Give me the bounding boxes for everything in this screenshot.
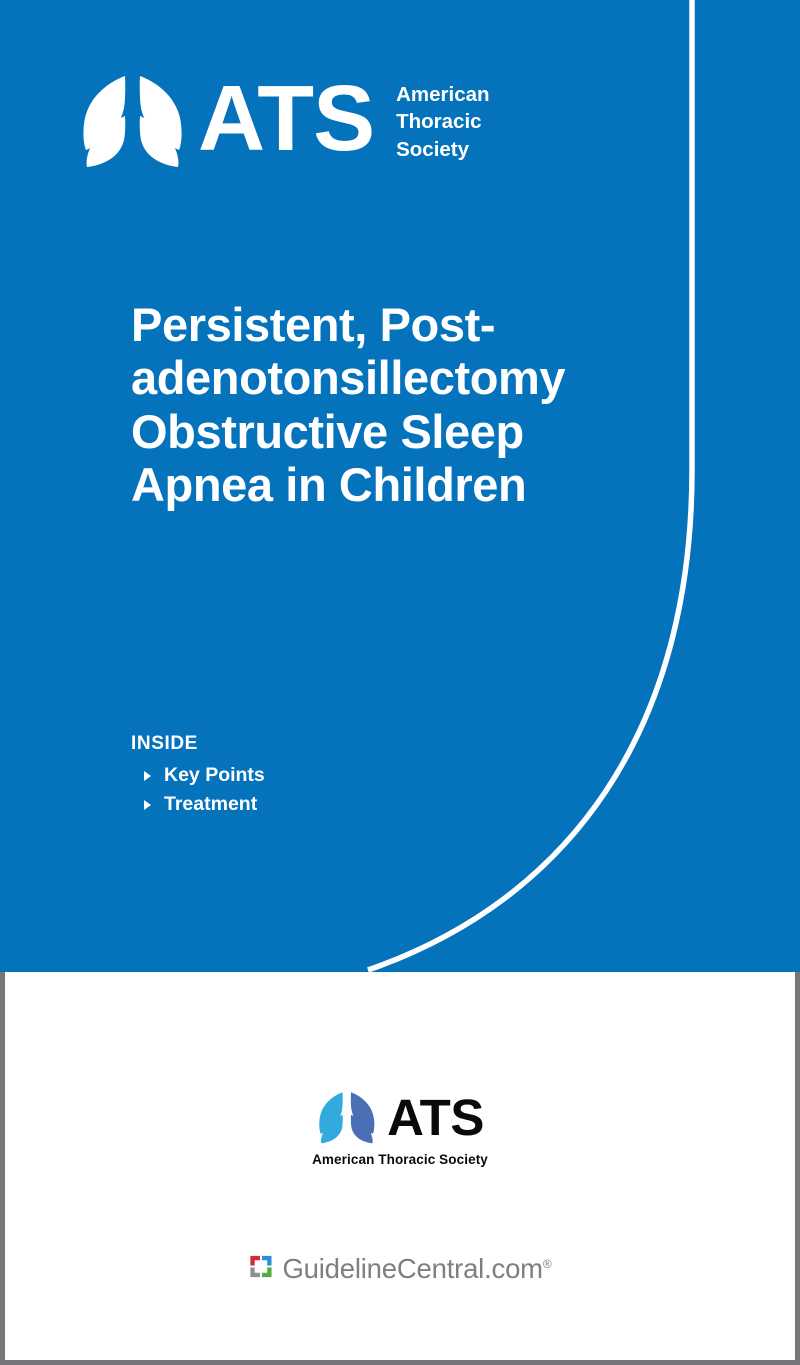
- ats-logo-footer: ATS American Thoracic Society: [312, 1090, 488, 1167]
- ats-logo-header: ATS American Thoracic Society: [78, 72, 490, 170]
- inside-item-label: Treatment: [164, 793, 257, 816]
- publisher-label: GuidelineCentral.com: [282, 1253, 542, 1284]
- ats-org-line-2: Thoracic: [396, 108, 489, 135]
- inside-list: Key Points Treatment: [131, 764, 265, 816]
- inside-section: INSIDE Key Points Treatment: [131, 733, 265, 822]
- inside-list-item-treatment[interactable]: Treatment: [144, 793, 265, 816]
- ats-wordmark: ATS: [387, 1096, 484, 1140]
- cover-page: ATS American Thoracic Society Persistent…: [0, 0, 800, 1365]
- guideline-central-pinwheel-icon: [248, 1254, 273, 1284]
- ats-lung-icon: [78, 72, 188, 170]
- inside-heading: INSIDE: [131, 733, 265, 755]
- inside-list-item-key-points[interactable]: Key Points: [144, 764, 265, 787]
- triangle-bullet-icon: [144, 771, 151, 781]
- footer-panel: ATS American Thoracic Society GuidelineC…: [0, 972, 800, 1365]
- ats-logo-footer-row: ATS: [312, 1090, 488, 1145]
- ats-org-name: American Thoracic Society: [312, 1152, 488, 1167]
- ats-lung-icon: [316, 1090, 378, 1145]
- ats-wordmark: ATS: [198, 79, 374, 157]
- inside-item-label: Key Points: [164, 764, 265, 787]
- registered-trademark-symbol: ®: [543, 1257, 552, 1271]
- ats-org-line-1: American: [396, 81, 489, 108]
- guideline-central-logo[interactable]: GuidelineCentral.com®: [248, 1253, 551, 1285]
- ats-org-line-3: Society: [396, 136, 489, 163]
- ats-org-name: American Thoracic Society: [396, 81, 489, 162]
- page-title: Persistent, Post-adenotonsillectomy Obst…: [131, 298, 651, 511]
- triangle-bullet-icon: [144, 800, 151, 810]
- hero-panel: ATS American Thoracic Society Persistent…: [0, 0, 800, 972]
- publisher-name: GuidelineCentral.com®: [282, 1253, 551, 1285]
